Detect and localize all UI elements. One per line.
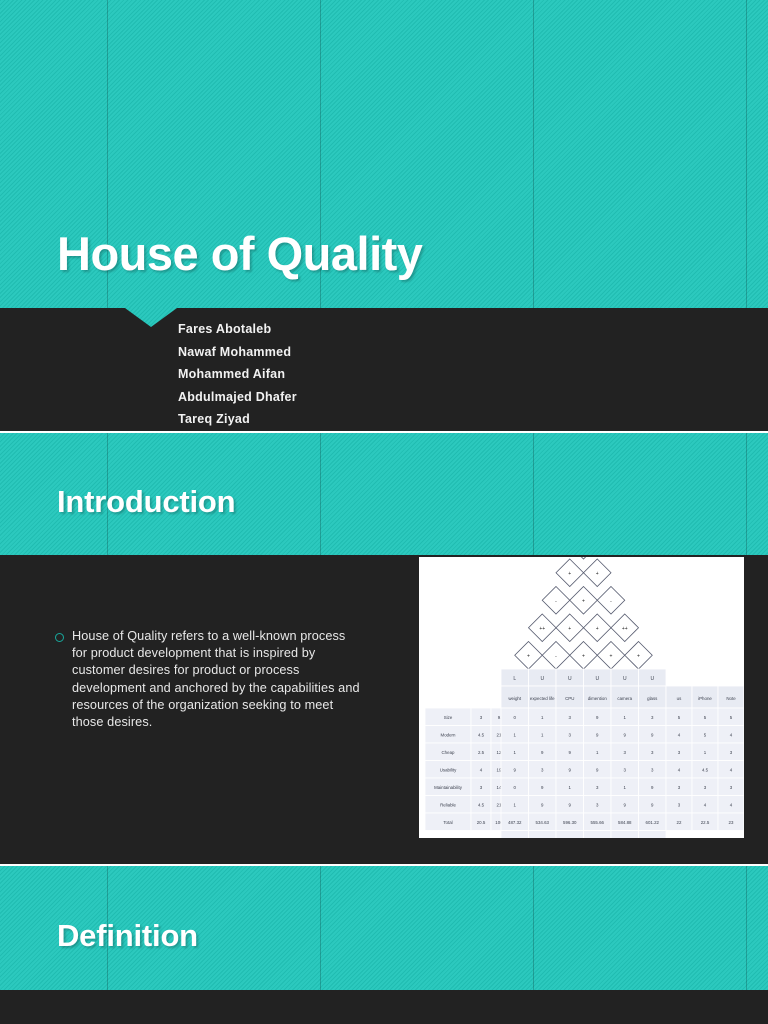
table-cell-text: U (568, 676, 572, 682)
table-cell-text: 4.5 (478, 802, 485, 807)
list-item: Tareq Ziyad (178, 408, 598, 431)
table-cell-text: 20.5 (477, 820, 486, 825)
grid-rule (320, 433, 321, 555)
table-cell-text: U (650, 676, 654, 682)
table-cell-text: 596.30 (563, 820, 577, 825)
grid-rule (746, 0, 747, 308)
table-cell-text: 27.44 (564, 837, 576, 838)
definition-slide-body-panel (0, 990, 768, 1024)
roof-symbol: + (637, 653, 640, 659)
table-cell-text: Note (726, 696, 736, 701)
roof-symbol: + (610, 653, 613, 659)
table-cell-text: 601.22 (646, 820, 660, 825)
hoq-diagram: +-+++++++++-+-+++ LUUUUUweightexpected l… (419, 557, 744, 838)
table-cell-text: 2.5 (478, 750, 485, 755)
table-cell-text: L (513, 676, 516, 682)
roof-symbol: + (582, 598, 585, 604)
roof-symbol: ++ (539, 626, 545, 632)
roof-symbol: + (527, 653, 530, 659)
list-item: Abdulmajed Dhafer (178, 386, 598, 409)
table-cell-text: iPhone (698, 696, 712, 701)
table-cell-text: 4.5 (702, 767, 709, 772)
introduction-bullet-text: House of Quality refers to a well-known … (72, 628, 360, 731)
grid-rule (533, 433, 534, 555)
table-cell-text: expected life (530, 696, 555, 701)
roof-symbol: ++ (622, 626, 628, 632)
table-cell-text: 4.5 (478, 732, 485, 737)
table-cell-text: 15.84 (619, 837, 631, 838)
grid-rule (533, 0, 534, 308)
roof-symbol: + (582, 653, 585, 659)
table-cell-text: 534.63 (536, 820, 550, 825)
table-cell-text: CPU (565, 696, 574, 701)
introduction-heading: Introduction (57, 484, 235, 520)
roof-cell (570, 557, 598, 559)
grid-rule (533, 866, 534, 990)
introduction-bullet: House of Quality refers to a well-known … (55, 628, 360, 731)
list-item: Mohammed Aifan (178, 363, 598, 386)
table-cell-text: Size (444, 715, 453, 720)
bullet-circle-icon (55, 633, 64, 642)
table-cell-text: dimention (588, 696, 608, 701)
grid-rule (746, 433, 747, 555)
table-cell-text: 17.37 (592, 837, 604, 838)
table-cell-text: camera (617, 696, 632, 701)
roof-symbol: + (596, 626, 599, 632)
table-cell-text: 584.88 (618, 820, 632, 825)
table-cell-text: 36.34 (537, 837, 549, 838)
author-list: Fares Abotaleb Nawaf Mohammed Mohammed A… (178, 318, 598, 431)
table-cell-text: Maintainability (434, 785, 463, 790)
table-cell-text: Total (443, 820, 452, 825)
table-cell-text: Reliable (440, 802, 456, 807)
definition-heading: Definition (57, 918, 198, 954)
list-item: Fares Abotaleb (178, 318, 598, 341)
table-cell-text: 555.66 (591, 820, 605, 825)
table-cell-text: U (540, 676, 544, 682)
grid-rule (320, 866, 321, 990)
page-title: House of Quality (57, 226, 422, 281)
grid-rule (746, 866, 747, 990)
table-cell-text: weight (508, 696, 521, 701)
table-cell-text: us (677, 696, 682, 701)
table-cell-text: U (595, 676, 599, 682)
table-cell-text: Modern (441, 732, 456, 737)
table-cell-text: 22 (677, 820, 682, 825)
house-of-quality-figure: +-+++++++++-+-+++ LUUUUUweightexpected l… (419, 557, 744, 838)
table-cell-text: 23 (729, 820, 734, 825)
table-cell-text: 20.43 (647, 837, 659, 838)
table-cell-text: 12.78 (509, 837, 521, 838)
presentation-page: House of Quality Fares Abotaleb Nawaf Mo… (0, 0, 768, 1024)
roof-symbol: + (568, 571, 571, 577)
table-cell-text: U (623, 676, 627, 682)
table-cell-text: glass (647, 696, 658, 701)
table-cell-text: 22.5 (701, 820, 710, 825)
table-cell-text: 487.32 (508, 820, 522, 825)
table-cell-text: Cheap (442, 750, 455, 755)
roof-symbol: + (596, 571, 599, 577)
roof-symbol: + (568, 626, 571, 632)
table-cell-text: Usability (440, 767, 457, 772)
list-item: Nawaf Mohammed (178, 341, 598, 364)
